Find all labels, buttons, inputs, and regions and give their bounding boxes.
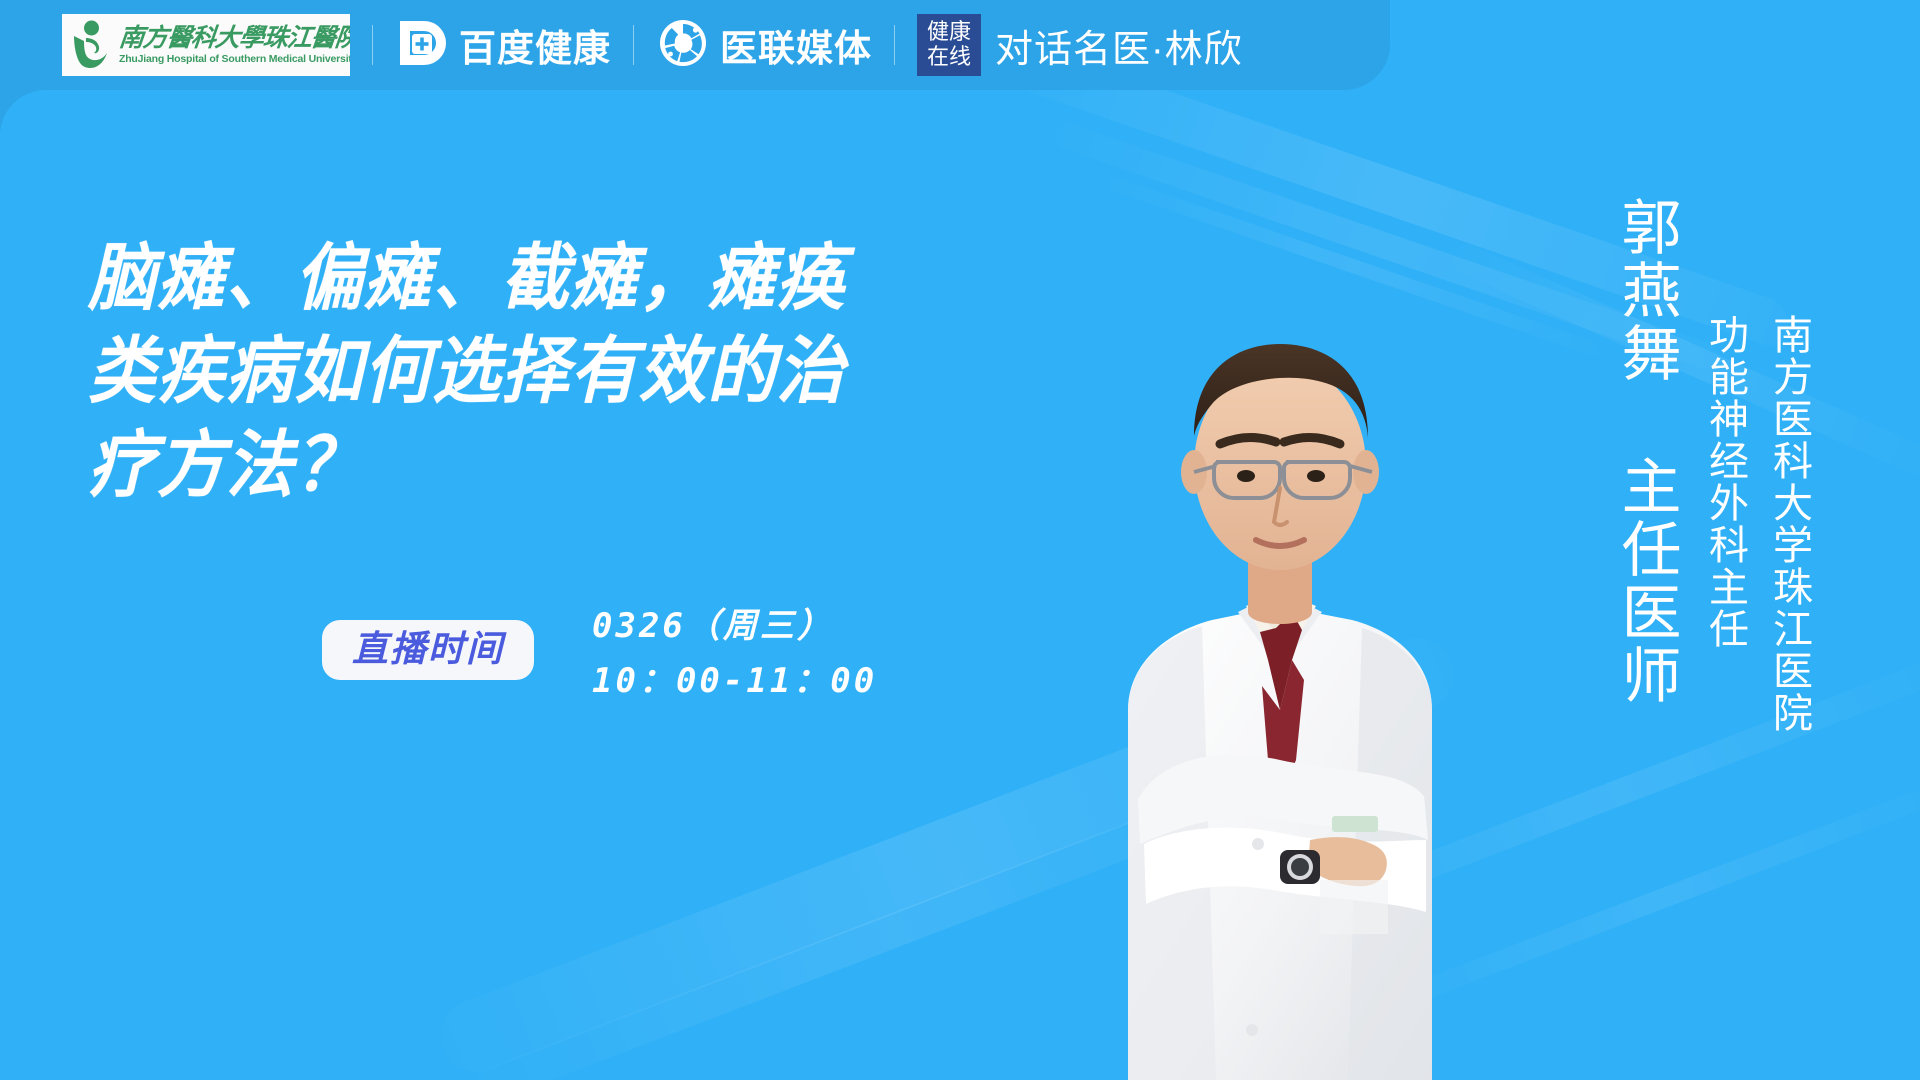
live-time-label: 直播时间 xyxy=(322,620,534,680)
doctor-name: 郭燕舞 主任医师 xyxy=(1603,196,1690,707)
header-bar: 南方醫科大學珠江醫院 ZhuJiang Hospital of Southern… xyxy=(0,0,1390,90)
headline-line-2: 类疾病如何选择有效的治 xyxy=(88,325,1037,418)
yilian-media-icon xyxy=(656,16,710,75)
poster-canvas: 南方醫科大學珠江醫院 ZhuJiang Hospital of Southern… xyxy=(0,0,1920,1080)
partner-yilian-media-label: 医联媒体 xyxy=(720,18,872,72)
header-divider xyxy=(633,25,634,65)
partner-yilian-media: 医联媒体 xyxy=(656,16,872,75)
hospital-logo-icon xyxy=(68,19,114,71)
doctor-hospital: 南方医科大学珠江医院 xyxy=(1760,314,1818,734)
hospital-logo: 南方醫科大學珠江醫院 ZhuJiang Hospital of Southern… xyxy=(62,14,350,76)
headline-line-3: 疗方法？ xyxy=(88,419,1037,512)
doctor-department: 功能神经外科主任 xyxy=(1696,314,1754,650)
partner-baidu-health: 百度健康 xyxy=(395,16,611,75)
hospital-logo-chinese: 南方醫科大學珠江醫院 xyxy=(118,26,346,51)
live-schedule: 直播时间 0326（周三） 10：00-11：00 xyxy=(322,598,877,702)
doctor-credentials: 南方医科大学珠江医院 功能神经外科主任 郭燕舞 主任医师 xyxy=(1603,196,1818,796)
headline-line-1: 脑瘫、偏瘫、截瘫，瘫痪 xyxy=(88,232,1037,325)
live-date-text: 0326（周三） xyxy=(592,598,877,647)
status-badge: 健康 在线 xyxy=(917,14,981,76)
status-badge-line2: 在线 xyxy=(927,45,971,70)
page-title: 对话名医·林欣 xyxy=(995,18,1243,73)
baidu-health-icon xyxy=(395,16,449,75)
live-time-values: 0326（周三） 10：00-11：00 xyxy=(592,598,877,702)
headline: 脑瘫、偏瘫、截瘫，瘫痪 类疾病如何选择有效的治 疗方法？ xyxy=(88,232,1108,512)
live-time-text: 10：00-11：00 xyxy=(592,653,877,702)
header-divider xyxy=(894,25,895,65)
hospital-logo-english: ZhuJiang Hospital of Southern Medical Un… xyxy=(119,54,344,65)
status-badge-line1: 健康 xyxy=(927,20,971,45)
partner-baidu-health-label: 百度健康 xyxy=(459,18,611,72)
header-divider xyxy=(372,25,373,65)
